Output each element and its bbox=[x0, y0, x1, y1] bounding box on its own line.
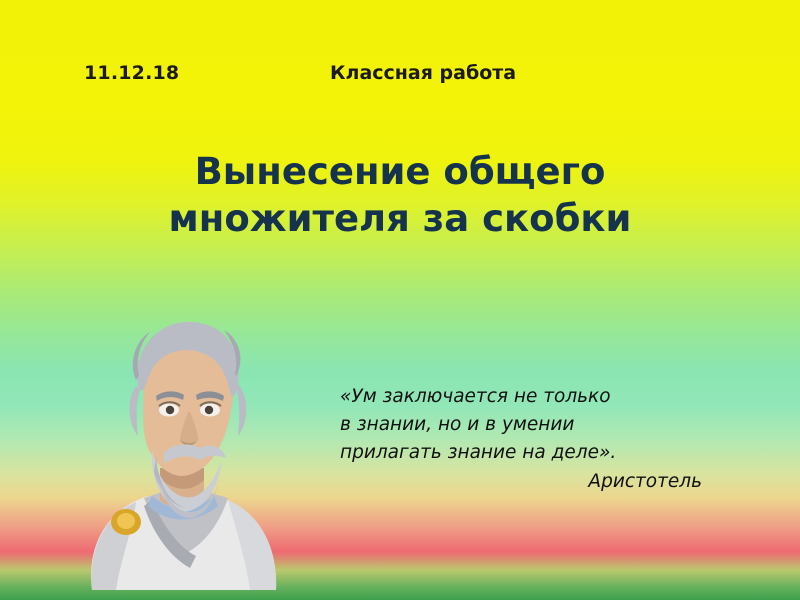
lesson-date: 11.12.18 bbox=[84, 62, 179, 84]
quote-line-3: прилагать знание на деле». bbox=[340, 439, 720, 467]
quote-line-2: в знании, но и в умении bbox=[340, 411, 720, 439]
quote-line-1: «Ум заключается не только bbox=[340, 383, 720, 411]
quote-block: «Ум заключается не только в знании, но и… bbox=[340, 383, 720, 496]
classwork-label: Классная работа bbox=[330, 62, 516, 84]
page-title: Вынесение общего множителя за скобки bbox=[60, 148, 740, 243]
aristotle-bust-illustration bbox=[40, 300, 320, 590]
page-title-line-1: Вынесение общего bbox=[195, 150, 606, 193]
quote-author: Аристотель bbox=[340, 468, 720, 496]
presentation-slide: 11.12.18 Классная работа Вынесение общег… bbox=[0, 0, 800, 600]
slide-header: 11.12.18 Классная работа bbox=[0, 62, 800, 90]
page-title-line-2: множителя за скобки bbox=[169, 197, 632, 240]
